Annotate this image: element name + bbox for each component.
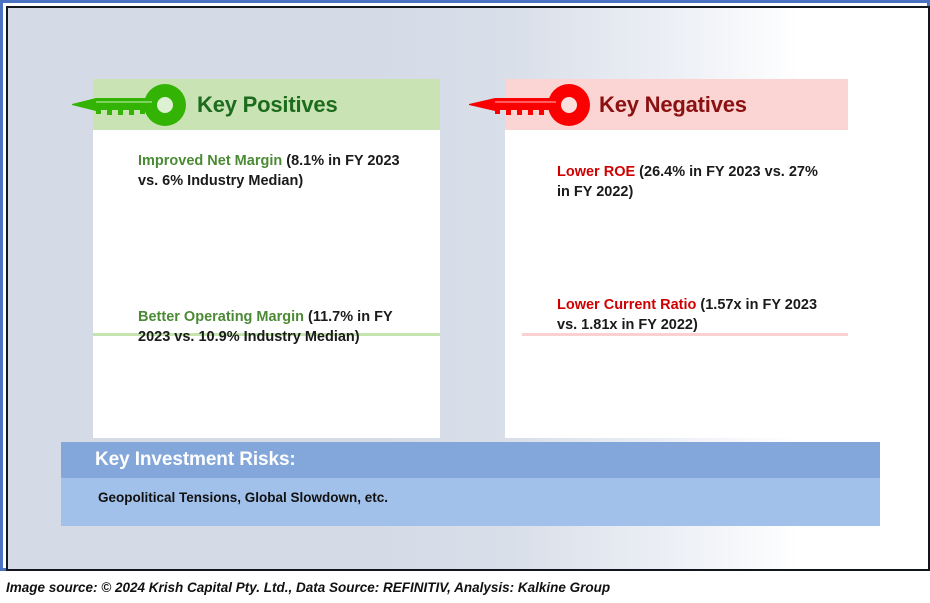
- negative-item-1-lead: Lower ROE: [557, 164, 635, 180]
- key-negatives-body: Lower ROE (26.4% in FY 2023 vs. 27% in F…: [505, 130, 848, 438]
- key-investment-risks-banner: Key Investment Risks: Geopolitical Tensi…: [61, 442, 880, 526]
- key-icon: [463, 84, 595, 126]
- outer-frame: Key Positives Improved Net Margin (8.1% …: [0, 0, 930, 571]
- negative-item-2: Lower Current Ratio (1.57x in FY 2023 vs…: [505, 296, 848, 335]
- footer-source-text: Image source: © 2024 Krish Capital Pty. …: [6, 580, 610, 595]
- key-positives-body: Improved Net Margin (8.1% in FY 2023 vs.…: [93, 130, 440, 438]
- negative-item-2-lead: Lower Current Ratio: [557, 297, 696, 313]
- positive-item-2: Better Operating Margin (11.7% in FY 202…: [93, 308, 440, 347]
- footer: Image source: © 2024 Krish Capital Pty. …: [0, 571, 930, 603]
- risks-title: Key Investment Risks:: [95, 449, 296, 471]
- positive-item-1-lead: Improved Net Margin: [138, 153, 282, 169]
- infographic-root: Key Positives Improved Net Margin (8.1% …: [0, 0, 930, 603]
- positive-item-2-lead: Better Operating Margin: [138, 309, 304, 325]
- risks-text: Geopolitical Tensions, Global Slowdown, …: [98, 490, 388, 505]
- negative-item-1: Lower ROE (26.4% in FY 2023 vs. 27% in F…: [505, 163, 848, 202]
- key-positives-title: Key Positives: [197, 92, 337, 118]
- key-negatives-title: Key Negatives: [599, 92, 747, 118]
- positive-item-1: Improved Net Margin (8.1% in FY 2023 vs.…: [93, 152, 440, 191]
- inner-panel: Key Positives Improved Net Margin (8.1% …: [6, 6, 930, 571]
- key-negatives-card: Key Negatives Lower ROE (26.4% in FY 202…: [505, 79, 848, 438]
- key-positives-header: Key Positives: [93, 79, 440, 130]
- key-positives-card: Key Positives Improved Net Margin (8.1% …: [93, 79, 440, 438]
- risks-body: Geopolitical Tensions, Global Slowdown, …: [61, 478, 880, 526]
- key-icon: [66, 84, 191, 126]
- risks-header: Key Investment Risks:: [61, 442, 880, 478]
- key-negatives-header: Key Negatives: [505, 79, 848, 130]
